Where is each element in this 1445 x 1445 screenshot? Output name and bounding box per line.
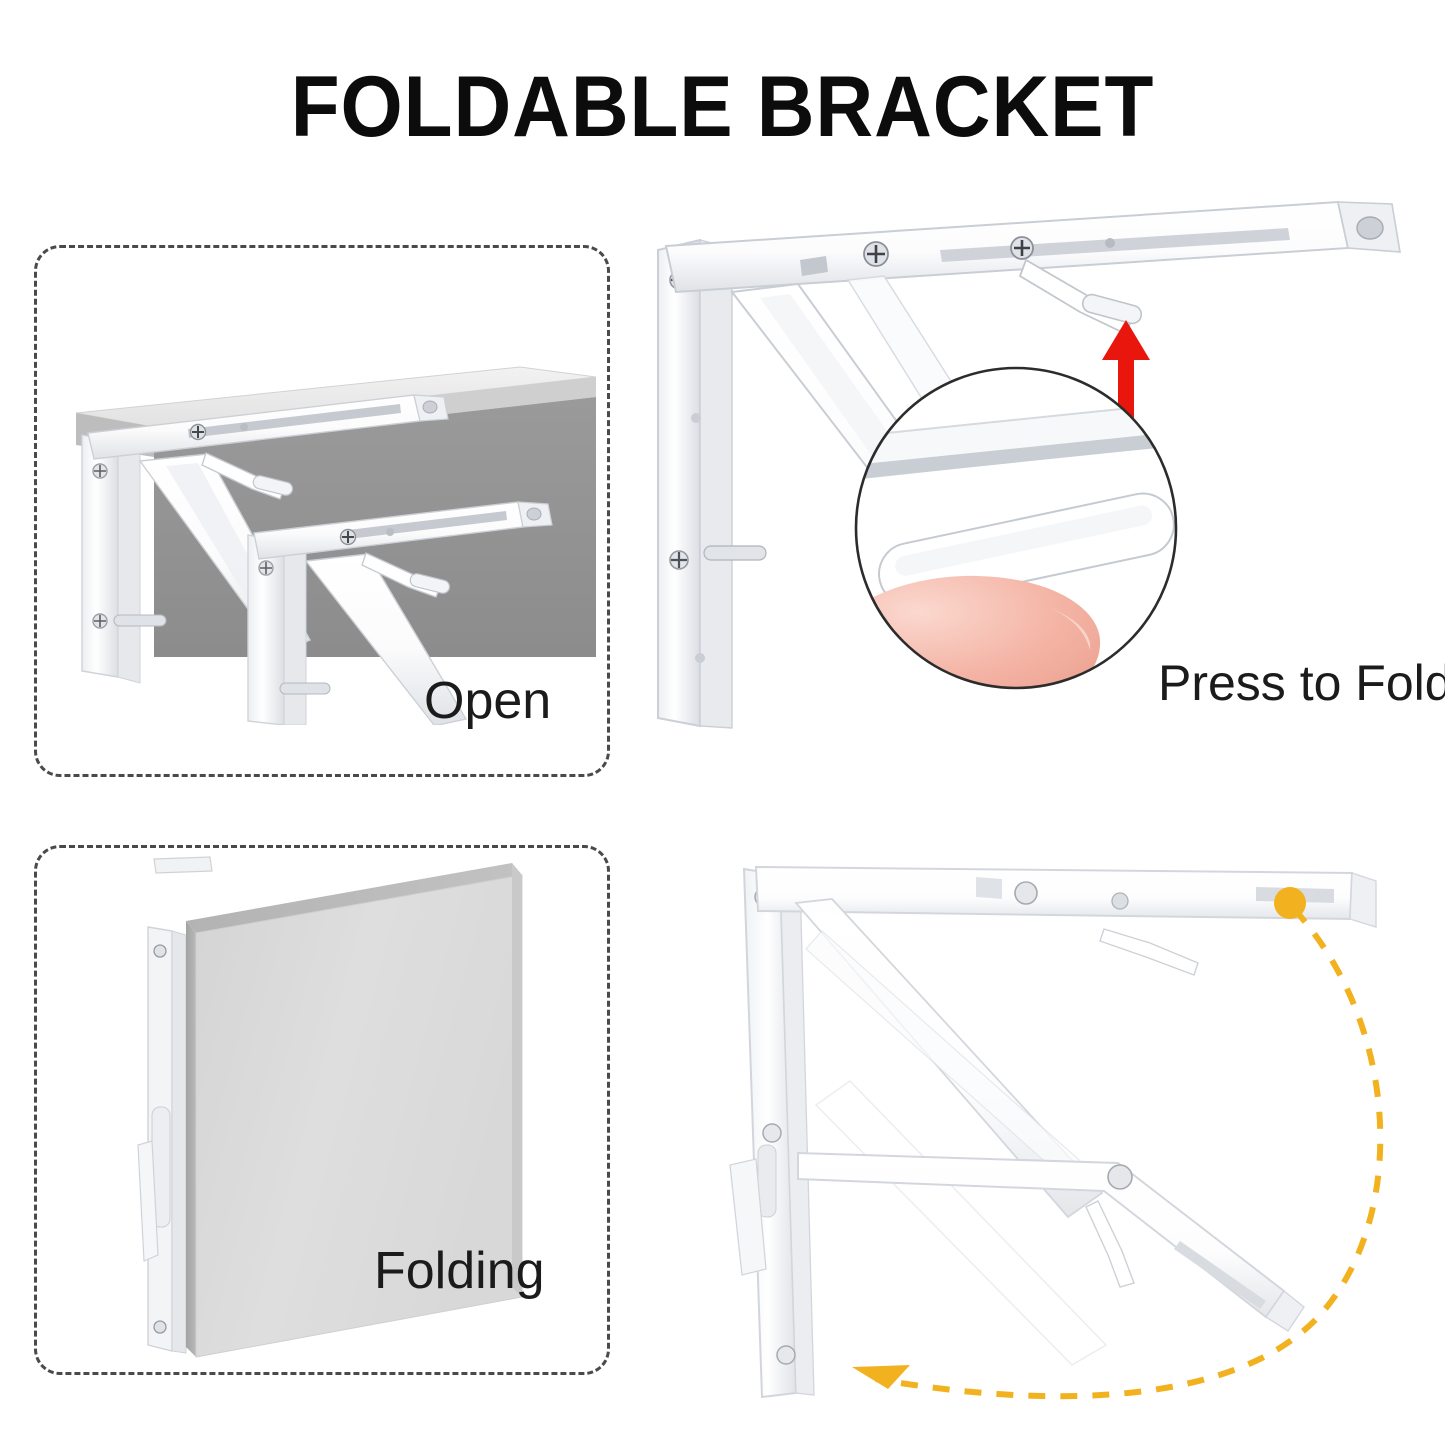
panel-label-press-to-fold: Press to Fold <box>1158 658 1445 708</box>
fold-motion-arc <box>852 887 1380 1396</box>
diagonal-struts <box>796 899 1106 1365</box>
panel-fold-motion <box>700 845 1412 1425</box>
panel-press-to-fold: Press to Fold <box>648 188 1438 754</box>
panel-label-open: Open <box>424 675 551 727</box>
pivot-dot <box>1274 887 1306 919</box>
wall-plate <box>730 869 814 1397</box>
panel-folding: Folding <box>34 845 610 1375</box>
panel-open: Open <box>34 245 610 777</box>
illustration-bracket-open <box>48 285 596 725</box>
page-title: FOLDABLE BRACKET <box>51 62 1395 152</box>
panel-label-folding: Folding <box>374 1245 545 1297</box>
illustration-bracket-fold-motion <box>700 845 1412 1425</box>
